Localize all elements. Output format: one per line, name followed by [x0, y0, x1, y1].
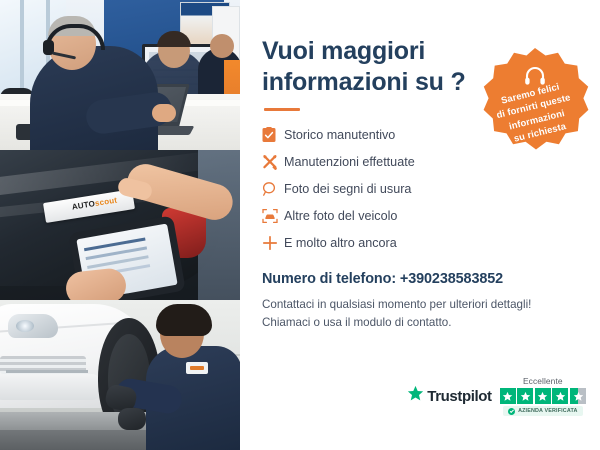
call-center-photo [0, 0, 240, 150]
trustpilot-rating-label: Eccellente [523, 376, 563, 386]
mechanic-hair-decor [156, 304, 212, 336]
headlight-decor [8, 314, 58, 338]
page-title: Vuoi maggiori informazioni su ? [262, 0, 477, 97]
star-filled-2 [517, 388, 533, 404]
headline-line-1: Vuoi maggiori [262, 37, 425, 65]
tools-icon [262, 154, 284, 170]
trustpilot-logo: Trustpilot [407, 385, 491, 407]
trustpilot-stars [500, 388, 586, 404]
advertisement-banner: AUTOscout [0, 0, 600, 450]
agent-hand-decor [152, 104, 176, 122]
phone-line[interactable]: Numero di telefono: +390238583852 [262, 271, 582, 287]
feature-label: Foto dei segni di usura [284, 182, 411, 196]
promo-badge: Saremo felici di fornirti queste informa… [476, 46, 594, 164]
title-divider [264, 108, 300, 111]
headline-line-2: informazioni su ? [262, 68, 466, 96]
colleague2-head-decor [210, 34, 234, 58]
star-filled-1 [500, 388, 516, 404]
bumper-decor [0, 374, 100, 400]
contact-subtext: Contattaci in qualsiasi momento per ulte… [262, 296, 582, 332]
star-half-5 [570, 388, 586, 404]
magnifier-icon [262, 181, 284, 197]
trustpilot-star-icon [407, 385, 424, 407]
contact-subtext-line-1: Contattaci in qualsiasi momento per ulte… [262, 296, 582, 314]
mechanic-photo [0, 300, 240, 450]
feature-item-wear-photos: Foto dei segni di usura [262, 178, 582, 199]
trustpilot-rating-block: Eccellente [500, 376, 586, 416]
uniform-logo-decor [186, 362, 208, 374]
content-panel: Vuoi maggiori informazioni su ? Saremo f… [240, 0, 600, 450]
feature-label: Altre foto del veicolo [284, 209, 397, 223]
chrome-trim-decor [6, 370, 88, 373]
star-filled-4 [552, 388, 568, 404]
mechanic-glove-decor-2 [118, 408, 146, 430]
star-filled-3 [535, 388, 551, 404]
plus-icon [262, 235, 284, 251]
feature-label: Manutenzioni effettuate [284, 155, 415, 169]
checklist-icon [262, 127, 284, 143]
feature-item-more-photos: Altre foto del veicolo [262, 205, 582, 226]
contact-subtext-line-2: Chiamaci o usa il modulo di contatto. [262, 314, 582, 332]
trustpilot-name: Trustpilot [427, 388, 491, 405]
lift-base-decor [0, 430, 150, 450]
feature-item-more: E molto altro ancora [262, 232, 582, 253]
phone-number[interactable]: +390238583852 [400, 271, 503, 287]
scan-car-icon [262, 208, 284, 224]
feature-label: E molto altro ancora [284, 236, 397, 250]
photo-column: AUTOscout [0, 0, 240, 450]
trustpilot-widget[interactable]: Trustpilot Eccellente [407, 376, 586, 416]
feature-label: Storico manutentivo [284, 128, 395, 142]
phone-label: Numero di telefono: [262, 271, 396, 287]
car-inspection-photo: AUTOscout [0, 150, 240, 300]
verified-company-badge: AZIENDA VERIFICATA [503, 406, 583, 416]
verified-label: AZIENDA VERIFICATA [518, 408, 578, 414]
verified-check-icon [508, 408, 515, 415]
